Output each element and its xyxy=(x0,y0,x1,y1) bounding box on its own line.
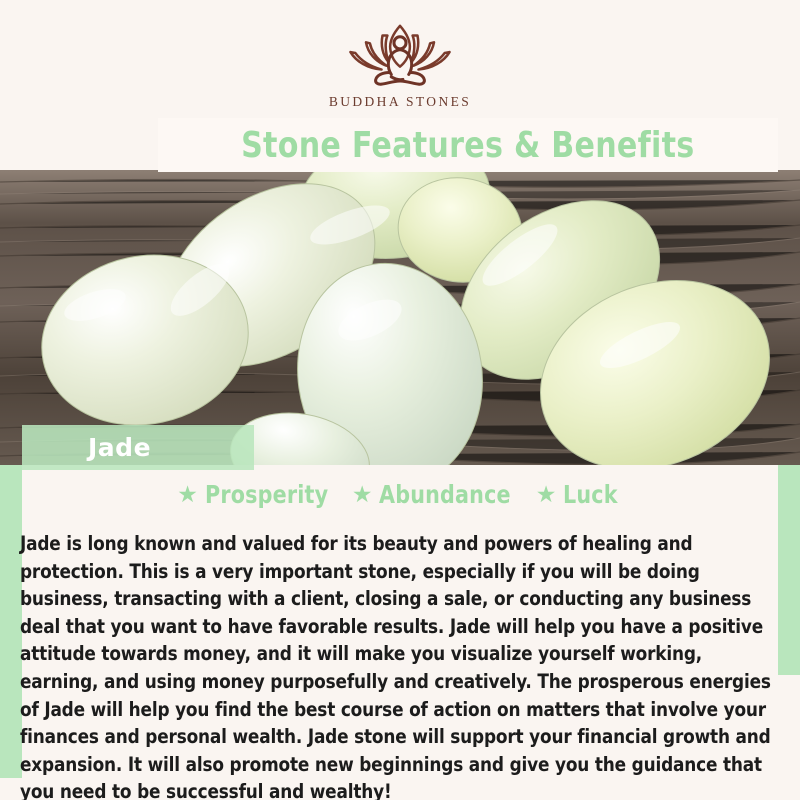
stone-name-label: Jade xyxy=(88,433,151,462)
decor-band-left-lower xyxy=(0,465,22,778)
benefit-item-prosperity: ★ Prosperity xyxy=(177,480,339,509)
stone-info-card: BUDDHA STONES Stone Features & Benefits xyxy=(0,0,800,800)
benefits-row: ★ Prosperity ★ Abundance ★ Luck xyxy=(0,478,800,510)
stone-name-badge: Jade xyxy=(22,425,254,470)
star-icon: ★ xyxy=(177,483,198,506)
benefit-item-luck: ★ Luck xyxy=(536,480,623,509)
star-icon: ★ xyxy=(536,483,557,506)
stone-photo xyxy=(0,170,800,465)
benefit-label: Abundance xyxy=(379,480,511,509)
star-icon: ★ xyxy=(352,483,373,506)
title-banner: Stone Features & Benefits xyxy=(158,118,778,172)
brand-name: BUDDHA STONES xyxy=(329,94,471,110)
decor-band-right-lower xyxy=(778,500,800,675)
benefit-item-abundance: ★ Abundance xyxy=(352,480,523,509)
page-title: Stone Features & Benefits xyxy=(241,125,694,166)
stone-photo-graphic xyxy=(0,170,800,465)
lotus-meditation-icon xyxy=(325,20,475,88)
benefit-label: Luck xyxy=(563,480,618,509)
stone-description: Jade is long known and valued for its be… xyxy=(20,530,775,800)
benefit-label: Prosperity xyxy=(205,480,328,509)
